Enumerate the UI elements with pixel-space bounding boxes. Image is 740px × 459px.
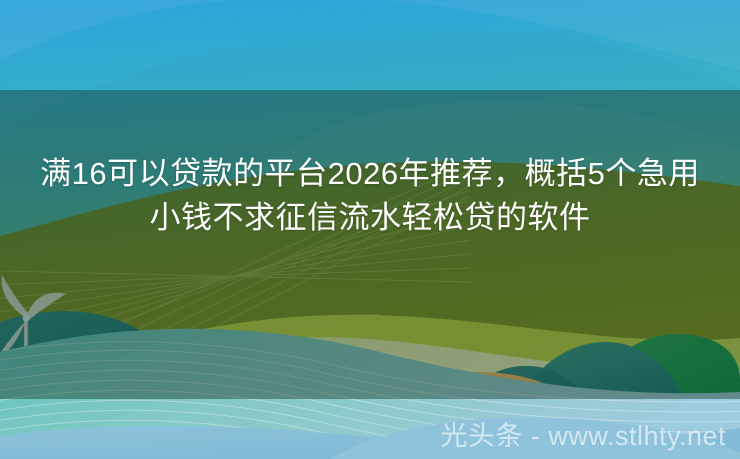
poster-canvas: 满16可以贷款的平台2026年推荐，概括5个急用小钱不求征信流水轻松贷的软件 光… [0,0,740,459]
turbine-hub [23,315,30,322]
page-title: 满16可以贷款的平台2026年推荐，概括5个急用小钱不求征信流水轻松贷的软件 [30,152,710,240]
